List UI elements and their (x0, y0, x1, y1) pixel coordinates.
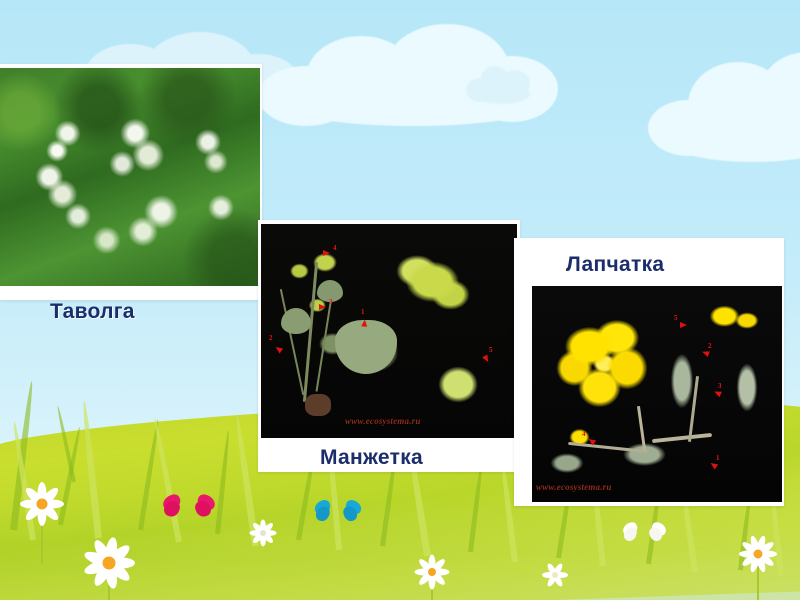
card-lapchatka[interactable]: 5 2 3 1 4 www.ecosystema.ru (514, 238, 784, 506)
arrow-icon (274, 345, 283, 354)
card-tavolga[interactable] (0, 64, 262, 300)
daisy-flower (14, 476, 70, 532)
watermark-text: www.ecosystema.ru (345, 416, 421, 426)
leaf-shape (335, 320, 397, 374)
arrow-number: 5 (489, 346, 493, 354)
arrow-icon (701, 349, 710, 357)
arrow-icon (319, 304, 326, 310)
butterfly-icon-cyan (314, 498, 346, 526)
cloud-icon-small (466, 62, 536, 108)
arrow-number: 3 (329, 298, 333, 306)
daisy-flower (246, 516, 280, 550)
slide-canvas: Таволга 4 3 2 1 5 www.ecosystema.ru (0, 0, 800, 600)
label-lapchatka: Лапчатка (566, 253, 664, 277)
arrow-icon (482, 354, 491, 363)
butterfly-icon-white (622, 520, 652, 546)
watermark-text: www.ecosystema.ru (536, 482, 612, 492)
label-manzhetka: Манжетка (320, 446, 423, 470)
daisy-flower (76, 530, 142, 596)
arrow-number: 1 (361, 308, 365, 316)
leaf-shape (281, 308, 311, 334)
arrow-number: 1 (716, 454, 720, 462)
arrow-icon (680, 322, 687, 328)
label-tavolga: Таволга (50, 300, 135, 324)
arrow-number: 4 (582, 430, 586, 438)
arrow-icon (323, 250, 330, 256)
daisy-flower (540, 560, 570, 590)
photo-cinquefoil[interactable]: 5 2 3 1 4 www.ecosystema.ru (532, 286, 782, 502)
arrow-icon (361, 319, 368, 326)
card-manzhetka[interactable]: 4 3 2 1 5 www.ecosystema.ru (258, 220, 520, 472)
photo-ladys-mantle[interactable]: 4 3 2 1 5 www.ecosystema.ru (261, 224, 517, 438)
daisy-flower (412, 552, 452, 592)
cloud-icon-right (648, 52, 800, 172)
arrow-number: 4 (333, 244, 337, 252)
arrow-icon (713, 389, 722, 397)
daisy-flower (736, 532, 780, 576)
arrow-number: 3 (718, 382, 722, 390)
arrow-number: 2 (269, 334, 273, 342)
butterfly-icon-pink (162, 492, 198, 522)
photo-meadowsweet[interactable] (0, 68, 260, 286)
arrow-number: 2 (708, 342, 712, 350)
arrow-number: 5 (674, 314, 678, 322)
